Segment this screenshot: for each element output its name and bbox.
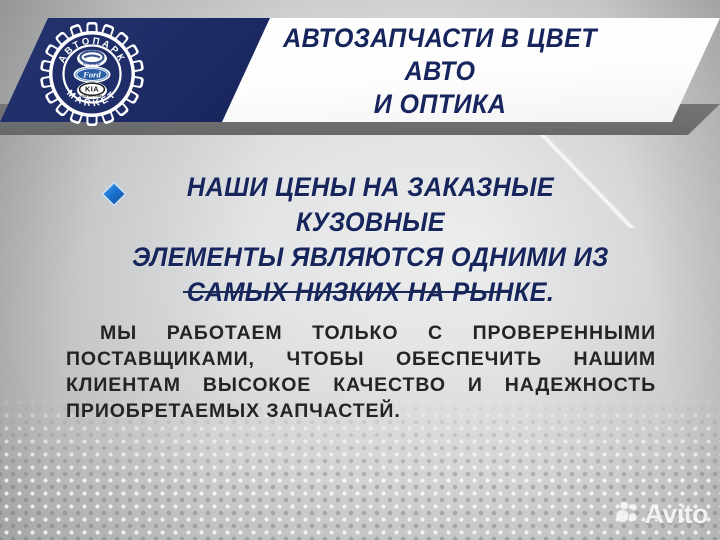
brand-hyundai: HYUNDAI bbox=[77, 50, 107, 67]
brand-ford: Ford bbox=[74, 66, 111, 83]
avito-dots-logo-icon bbox=[615, 499, 641, 530]
headline-text: НАШИ ЦЕНЫ НА ЗАКАЗНЫЕ КУЗОВНЫЕ ЭЛЕМЕНТЫ … bbox=[108, 170, 616, 310]
body-paragraph-text: Мы работаем только с проверенными постав… bbox=[66, 322, 656, 422]
svg-text:Ford: Ford bbox=[82, 70, 101, 80]
headline-block: НАШИ ЦЕНЫ НА ЗАКАЗНЫЕ КУЗОВНЫЕ ЭЛЕМЕНТЫ … bbox=[92, 170, 632, 310]
svg-text:KIA MOTORS: KIA MOTORS bbox=[81, 94, 102, 98]
avito-watermark: Avito bbox=[615, 499, 709, 530]
body-paragraph: Мы работаем только с проверенными постав… bbox=[66, 320, 656, 424]
company-logo: АВТОПАРК MARKET HYUNDAI Ford bbox=[40, 22, 144, 126]
brand-kia: KIA KIA MOTORS bbox=[77, 82, 107, 99]
header-banner: АВТОЗАПЧАСТИ В ЦВЕТ АВТО И ОПТИКА bbox=[0, 0, 720, 140]
header-title: АВТОЗАПЧАСТИ В ЦВЕТ АВТО И ОПТИКА bbox=[245, 22, 636, 121]
svg-text:HYUNDAI: HYUNDAI bbox=[83, 62, 101, 66]
promo-banner: АВТОЗАПЧАСТИ В ЦВЕТ АВТО И ОПТИКА bbox=[0, 0, 720, 540]
headline-underline bbox=[183, 291, 505, 293]
svg-text:KIA: KIA bbox=[85, 85, 99, 94]
avito-wordmark: Avito bbox=[645, 501, 709, 528]
